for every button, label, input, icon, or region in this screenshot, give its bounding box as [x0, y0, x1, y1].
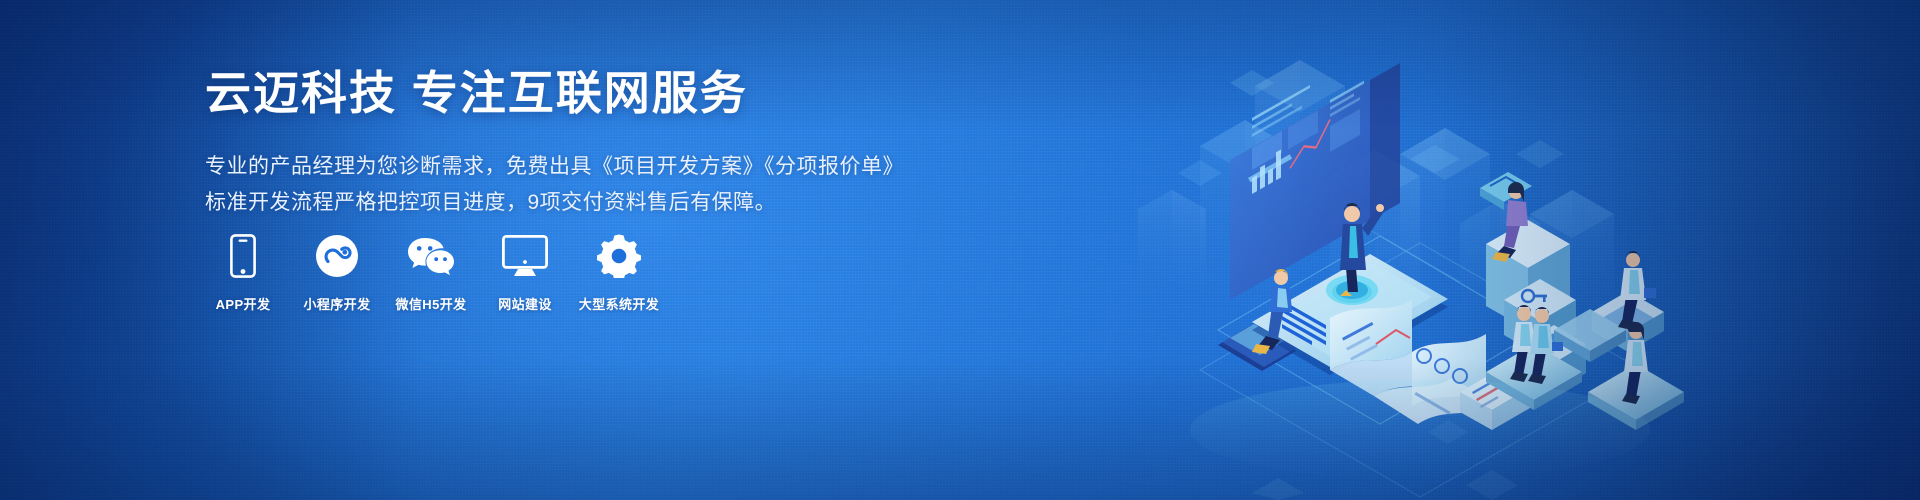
- page-title: 云迈科技 专注互联网服务: [205, 66, 905, 120]
- service-item-large-system[interactable]: 大型系统开发: [581, 232, 657, 313]
- mini-program-icon: [315, 232, 359, 280]
- service-item-wechat-h5[interactable]: 微信H5开发: [393, 232, 469, 313]
- hero-banner: 云迈科技 专注互联网服务 专业的产品经理为您诊断需求，免费出具《项目开发方案》《…: [0, 0, 1920, 500]
- service-icon-list: APP开发 小程序开发: [205, 232, 657, 313]
- service-item-website[interactable]: 网站建设: [487, 232, 563, 313]
- isometric-tech-teamwork-illustration: [900, 0, 1920, 500]
- service-item-miniprogram[interactable]: 小程序开发: [299, 232, 375, 313]
- service-label-large-system: 大型系统开发: [579, 294, 659, 313]
- service-label-wechat-h5: 微信H5开发: [395, 294, 466, 313]
- subtitle-line-1: 专业的产品经理为您诊断需求，免费出具《项目开发方案》《分项报价单》: [205, 150, 905, 184]
- subtitle-line-2: 标准开发流程严格把控项目进度，9项交付资料售后有保障。: [205, 186, 905, 220]
- wechat-icon: [407, 232, 455, 280]
- service-label-app: APP开发: [216, 294, 271, 313]
- hero-copy: 云迈科技 专注互联网服务 专业的产品经理为您诊断需求，免费出具《项目开发方案》《…: [205, 66, 905, 220]
- service-item-app[interactable]: APP开发: [205, 232, 281, 313]
- mobile-phone-icon: [230, 232, 256, 280]
- gear-icon: [597, 232, 641, 280]
- monitor-icon: [502, 232, 548, 280]
- service-label-miniprogram: 小程序开发: [303, 294, 370, 313]
- service-label-website: 网站建设: [498, 294, 552, 313]
